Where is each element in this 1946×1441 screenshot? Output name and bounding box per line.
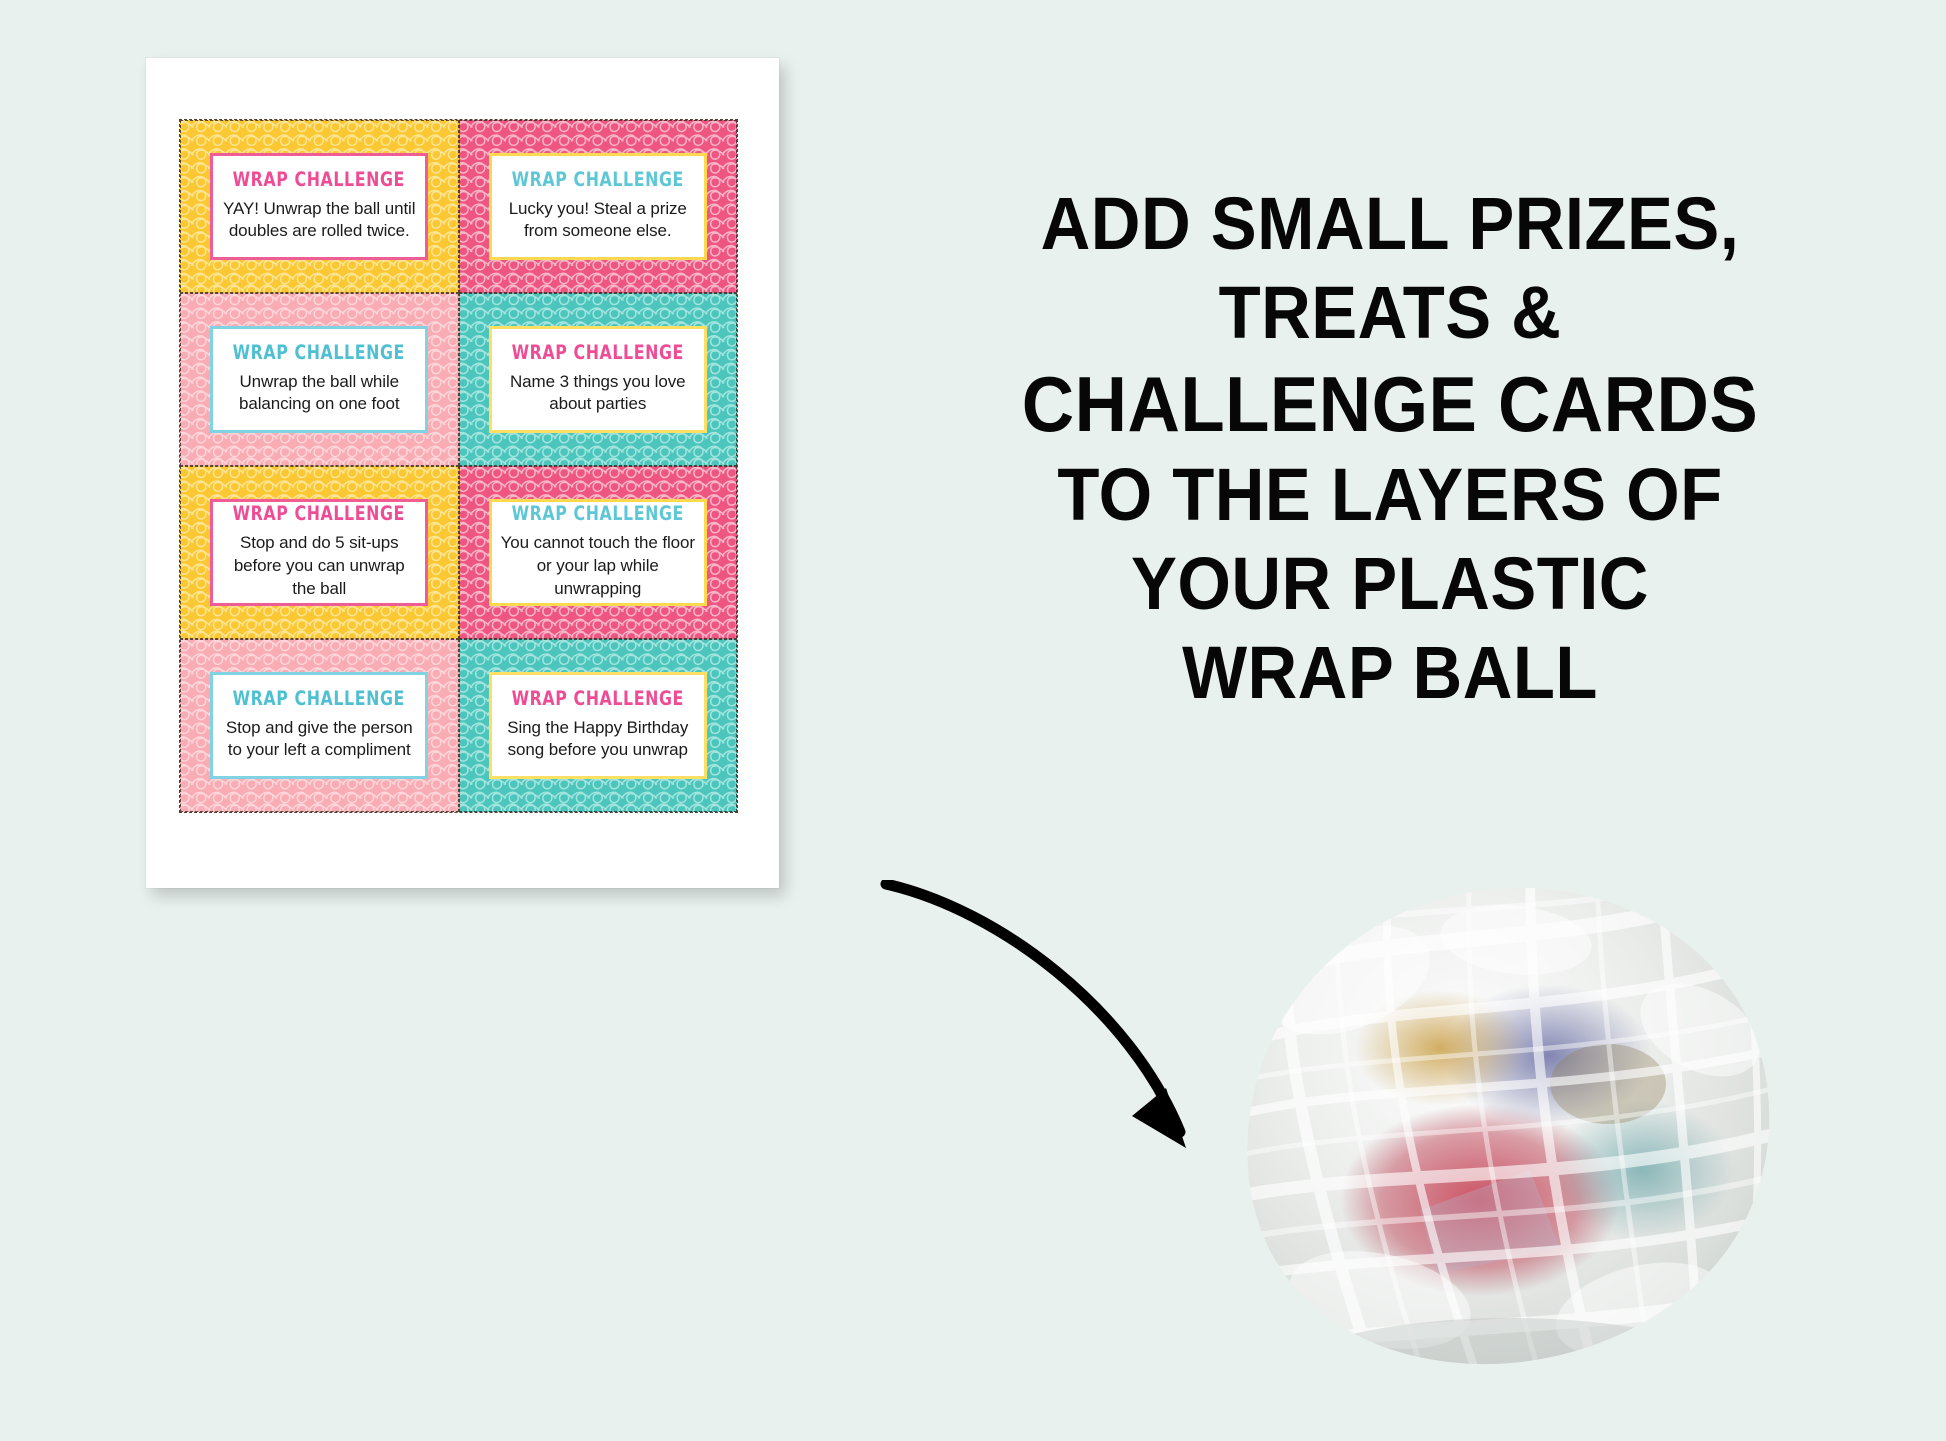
card-grid: WRAP CHALLENGEYAY! Unwrap the ball until… <box>180 120 737 812</box>
challenge-card: WRAP CHALLENGEYou cannot touch the floor… <box>459 466 738 639</box>
card-body-text: You cannot touch the floor or your lap w… <box>500 532 696 600</box>
challenge-card: WRAP CHALLENGESing the Happy Birthday so… <box>459 639 738 812</box>
card-inner-panel: WRAP CHALLENGESing the Happy Birthday so… <box>489 672 707 778</box>
card-title: WRAP CHALLENGE <box>233 687 405 709</box>
card-title: WRAP CHALLENGE <box>512 168 684 190</box>
card-title: WRAP CHALLENGE <box>512 687 684 709</box>
card-inner-panel: WRAP CHALLENGEYAY! Unwrap the ball until… <box>210 153 428 259</box>
card-inner-panel: WRAP CHALLENGEName 3 things you love abo… <box>489 326 707 432</box>
card-title: WRAP CHALLENGE <box>512 341 684 363</box>
card-body-text: Stop and give the person to your left a … <box>221 717 417 763</box>
plastic-wrap-ball-photo <box>1230 870 1790 1410</box>
card-body-text: YAY! Unwrap the ball until doubles are r… <box>221 198 417 244</box>
card-body-text: Sing the Happy Birthday song before you … <box>500 717 696 763</box>
card-title: WRAP CHALLENGE <box>233 503 405 525</box>
card-title: WRAP CHALLENGE <box>233 168 405 190</box>
page-headline: ADD SMALL PRIZES,TREATS &CHALLENGE CARDS… <box>990 180 1790 718</box>
challenge-card: WRAP CHALLENGELucky you! Steal a prize f… <box>459 120 738 293</box>
headline-line-3: CHALLENGE CARDS <box>990 358 1790 452</box>
challenge-card: WRAP CHALLENGEName 3 things you love abo… <box>459 293 738 466</box>
challenge-card: WRAP CHALLENGEYAY! Unwrap the ball until… <box>180 120 459 293</box>
headline-line-4: TO THE LAYERS OF <box>990 451 1790 540</box>
headline-line-1: ADD SMALL PRIZES, <box>990 180 1790 269</box>
card-body-text: Lucky you! Steal a prize from someone el… <box>500 198 696 244</box>
challenge-card: WRAP CHALLENGEStop and give the person t… <box>180 639 459 812</box>
card-body-text: Name 3 things you love about parties <box>500 371 696 417</box>
curved-arrow-icon <box>880 880 1250 1210</box>
card-body-text: Stop and do 5 sit-ups before you can unw… <box>221 532 417 600</box>
card-body-text: Unwrap the ball while balancing on one f… <box>221 371 417 417</box>
challenge-card: WRAP CHALLENGEUnwrap the ball while bala… <box>180 293 459 466</box>
headline-line-2: TREATS & <box>990 269 1790 358</box>
headline-line-6: WRAP BALL <box>990 629 1790 718</box>
printable-card-sheet: WRAP CHALLENGEYAY! Unwrap the ball until… <box>146 58 779 888</box>
card-inner-panel: WRAP CHALLENGEStop and do 5 sit-ups befo… <box>210 499 428 605</box>
card-title: WRAP CHALLENGE <box>233 341 405 363</box>
headline-line-5: YOUR PLASTIC <box>990 540 1790 629</box>
card-title: WRAP CHALLENGE <box>512 503 684 525</box>
challenge-card: WRAP CHALLENGEStop and do 5 sit-ups befo… <box>180 466 459 639</box>
card-inner-panel: WRAP CHALLENGEYou cannot touch the floor… <box>489 499 707 605</box>
card-inner-panel: WRAP CHALLENGEStop and give the person t… <box>210 672 428 778</box>
card-inner-panel: WRAP CHALLENGELucky you! Steal a prize f… <box>489 153 707 259</box>
card-inner-panel: WRAP CHALLENGEUnwrap the ball while bala… <box>210 326 428 432</box>
